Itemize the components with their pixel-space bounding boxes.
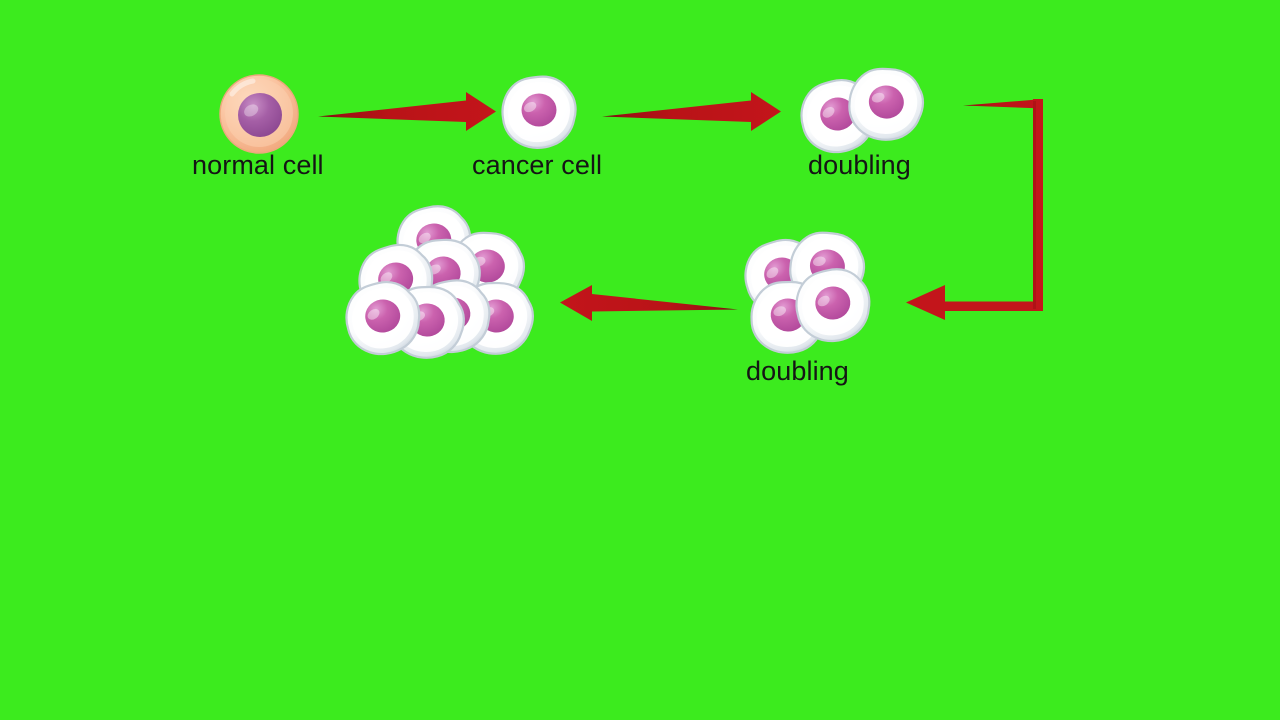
cancer-cell-graphic (502, 77, 575, 148)
label-doubling-four-cells: doubling (746, 358, 849, 385)
label-cancer-cell: cancer cell (472, 152, 602, 179)
doubling-four-cells-graphic (740, 226, 873, 357)
arrow-cancer-to-doubling (602, 92, 781, 131)
label-normal-cell: normal cell (192, 152, 324, 179)
arrow-doubling-elbow (906, 99, 1043, 320)
arrow-doubling-to-tumor (560, 285, 738, 321)
tumor-cluster-graphic (342, 203, 537, 362)
diagram-canvas: normal cell cancer cell doubling doublin… (0, 0, 1280, 720)
label-doubling-two-cells: doubling (808, 152, 911, 179)
arrow-normal-to-cancer (318, 92, 496, 131)
doubling-two-cells-graphic (797, 63, 928, 157)
cell-doubling-diagram (0, 0, 1280, 720)
normal-cell-graphic (220, 75, 298, 153)
